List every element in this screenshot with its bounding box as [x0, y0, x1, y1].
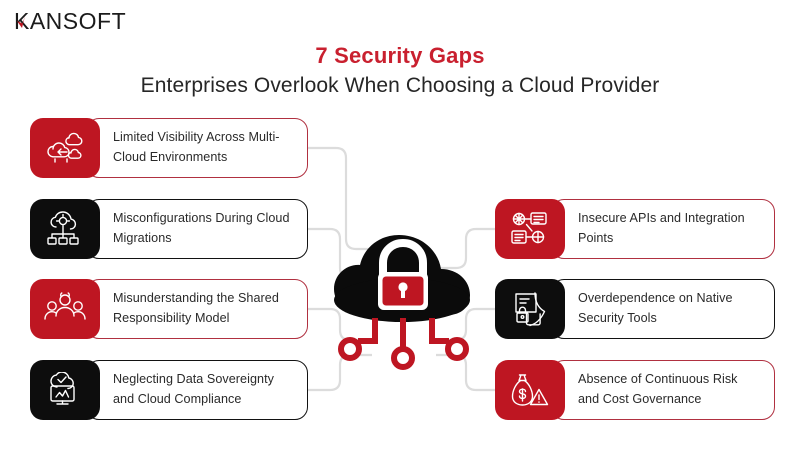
card-label-box: Absence of Continuous Risk and Cost Gove… — [551, 360, 775, 420]
card-risk-cost-governance[interactable]: Absence of Continuous Risk and Cost Gove… — [495, 360, 775, 420]
card-label: Limited Visibility Across Multi-Cloud En… — [113, 128, 295, 167]
shield-lock-icon — [495, 279, 565, 339]
card-label-box: Insecure APIs and Integration Points — [551, 199, 775, 259]
card-label: Absence of Continuous Risk and Cost Gove… — [578, 370, 762, 409]
people-group-icon — [30, 279, 100, 339]
card-insecure-apis[interactable]: Insecure APIs and Integration Points — [495, 199, 775, 259]
multi-cloud-icon — [30, 118, 100, 178]
card-shared-responsibility[interactable]: Misunderstanding the Shared Responsibili… — [30, 279, 308, 339]
card-limited-visibility[interactable]: Limited Visibility Across Multi-Cloud En… — [30, 118, 308, 178]
api-integration-icon — [495, 199, 565, 259]
money-bag-warning-icon — [495, 360, 565, 420]
card-label-box: Overdependence on Native Security Tools — [551, 279, 775, 339]
cloud-lock-circuit-icon — [320, 215, 500, 375]
card-label-box: Neglecting Data Sovereignty and Cloud Co… — [86, 360, 308, 420]
circuit-nodes-icon — [358, 318, 449, 349]
card-label-box: Misconfigurations During Cloud Migration… — [86, 199, 308, 259]
card-data-sovereignty[interactable]: Neglecting Data Sovereignty and Cloud Co… — [30, 360, 308, 420]
central-cloud-lock-graphic — [320, 215, 500, 375]
card-label: Misconfigurations During Cloud Migration… — [113, 209, 295, 248]
card-label: Neglecting Data Sovereignty and Cloud Co… — [113, 370, 295, 409]
cloud-network-nodes-icon — [30, 199, 100, 259]
card-label: Insecure APIs and Integration Points — [578, 209, 762, 248]
card-label: Overdependence on Native Security Tools — [578, 289, 762, 328]
card-label: Misunderstanding the Shared Responsibili… — [113, 289, 295, 328]
infographic-canvas: KANSOFT 7 Security Gaps Enterprises Over… — [0, 0, 800, 450]
card-native-security-tools[interactable]: Overdependence on Native Security Tools — [495, 279, 775, 339]
card-label-box: Limited Visibility Across Multi-Cloud En… — [86, 118, 308, 178]
card-misconfigurations[interactable]: Misconfigurations During Cloud Migration… — [30, 199, 308, 259]
card-label-box: Misunderstanding the Shared Responsibili… — [86, 279, 308, 339]
cloud-monitor-icon — [30, 360, 100, 420]
